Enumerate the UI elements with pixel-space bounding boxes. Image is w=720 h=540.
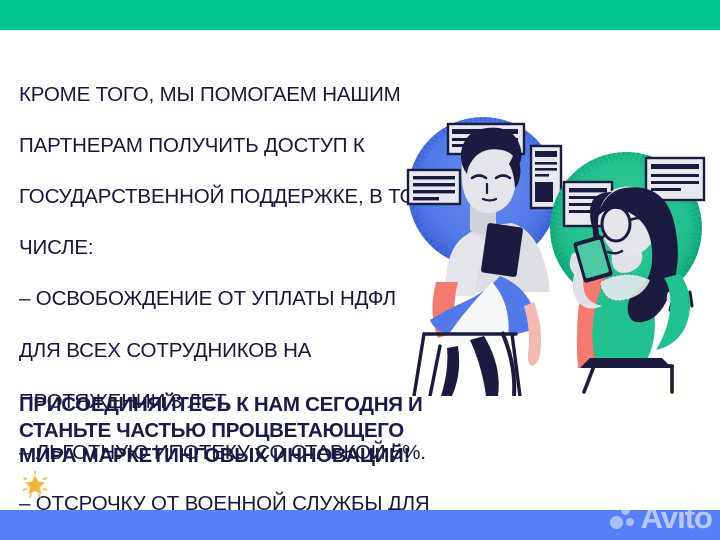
avito-watermark-text: Avito [641, 500, 712, 536]
cta-line: СТАНЬТЕ ЧАСТЬЮ ПРОЦВЕТАЮЩЕГО [19, 418, 449, 444]
cta-line: ПРИСОЕДИНЯЙТЕСЬ К НАМ СЕГОДНЯ И [19, 392, 449, 418]
body-line: ДЛЯ ВСЕХ СОТРУДНИКОВ НА [19, 338, 439, 364]
woman-figure-group [550, 152, 704, 392]
document-card [408, 170, 460, 204]
body-line: ГОСУДАРСТВЕННОЙ ПОДДЕРЖКЕ, В ТОМ [19, 184, 439, 210]
body-line: – ОСВОБОЖДЕНИЕ ОТ УПЛАТЫ НДФЛ [19, 286, 439, 312]
cta-heading-block: ПРИСОЕДИНЯЙТЕСЬ К НАМ СЕГОДНЯ И СТАНЬТЕ … [19, 392, 449, 469]
body-line: ЧИСЛЕ: [19, 235, 439, 261]
green-banner-strip [0, 0, 720, 30]
avito-logo-icon [610, 506, 636, 530]
glowing-star-icon [20, 470, 50, 500]
avito-watermark: Avito [610, 500, 712, 536]
body-line: КРОМЕ ТОГО, МЫ ПОМОГАЕМ НАШИМ [19, 82, 439, 108]
stool [584, 366, 672, 392]
cta-line: МИРА МАРКЕТИНГОВЫХ ИННОВАЦИЙ! [19, 443, 449, 469]
two-people-reading-illustration [388, 96, 720, 396]
man-figure-group [408, 117, 561, 396]
slide-canvas: КРОМЕ ТОГО, МЫ ПОМОГАЕМ НАШИМ ПАРТНЕРАМ … [0, 0, 720, 540]
body-line: ПАРТНЕРАМ ПОЛУЧИТЬ ДОСТУП К [19, 133, 439, 159]
